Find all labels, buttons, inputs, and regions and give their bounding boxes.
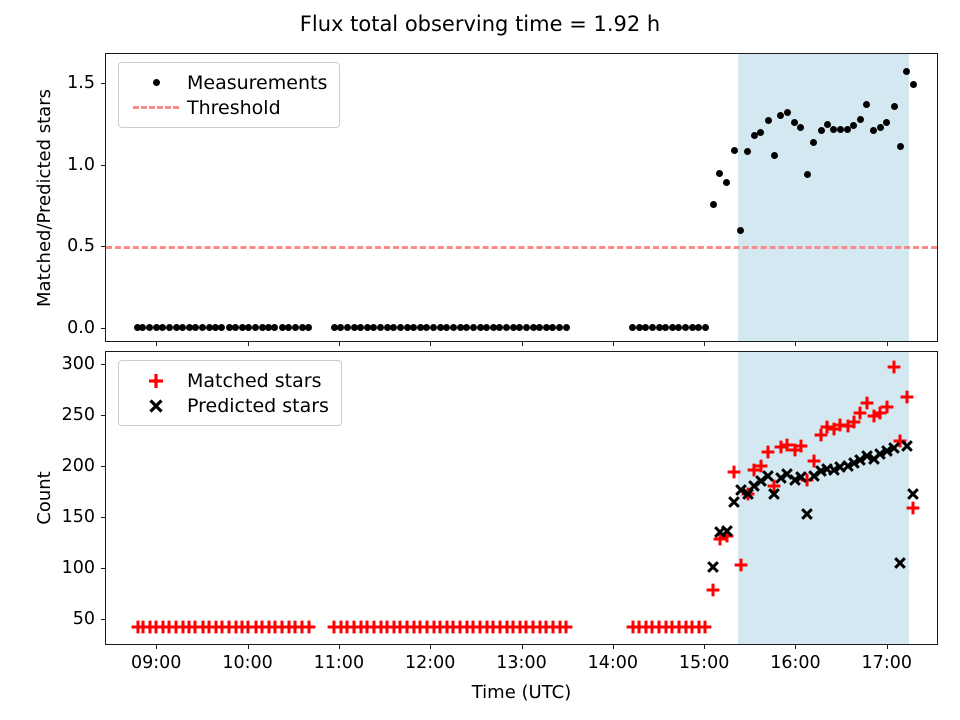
data-point (563, 324, 570, 331)
x-axis-label: Time (UTC) (472, 682, 572, 703)
data-point (139, 324, 146, 331)
data-point (801, 477, 802, 478)
data-point (166, 324, 173, 331)
y-tick (101, 517, 106, 518)
data-point (807, 514, 808, 515)
data-point (245, 324, 252, 331)
data-point (713, 567, 714, 568)
data-point (705, 627, 706, 628)
data-point (723, 179, 730, 186)
y-tick-label: 100 (62, 558, 95, 578)
x-tick-label: 14:00 (588, 653, 638, 673)
x-tick-label: 11:00 (314, 653, 364, 673)
y-tick (101, 619, 106, 620)
y-tick (101, 466, 106, 467)
legend-label-threshold: Threshold (183, 97, 281, 119)
x-tick-label: 13:00 (496, 653, 546, 673)
data-point (877, 124, 884, 131)
y-tick-label: 1.5 (67, 73, 95, 93)
figure-title: Flux total observing time = 1.92 h (0, 12, 960, 36)
cross-marker-icon (129, 396, 183, 416)
x-tick (795, 644, 796, 649)
figure-root: Flux total observing time = 1.92 h 0.00.… (0, 0, 960, 720)
data-point (566, 627, 567, 628)
data-point (768, 476, 769, 477)
data-point (397, 324, 404, 331)
x-tick-label: 17:00 (862, 653, 912, 673)
y-tick-label: 200 (62, 456, 95, 476)
data-point (757, 129, 764, 136)
x-tick (156, 644, 157, 649)
data-point (748, 494, 749, 495)
legend-label-measurements: Measurements (183, 72, 327, 94)
x-tick (339, 644, 340, 649)
data-point (894, 448, 895, 449)
data-point (860, 413, 861, 414)
data-point (854, 422, 855, 423)
data-point (741, 565, 742, 566)
data-point (804, 171, 811, 178)
y-axis-label-count: Count (34, 471, 55, 524)
data-point (887, 407, 888, 408)
data-point (737, 227, 744, 234)
x-tick (887, 341, 888, 346)
data-point (903, 68, 910, 75)
data-point (857, 116, 864, 123)
data-point (305, 324, 312, 331)
y-tick (101, 165, 106, 166)
data-point (784, 109, 791, 116)
data-point (818, 127, 825, 134)
data-point (702, 324, 709, 331)
data-point (913, 494, 914, 495)
x-tick (248, 341, 249, 346)
y-tick-label: 250 (62, 405, 95, 425)
data-point (910, 81, 917, 88)
data-point (907, 397, 908, 398)
data-point (913, 508, 914, 509)
data-point (837, 126, 844, 133)
x-tick (339, 341, 340, 346)
data-point (549, 324, 556, 331)
y-tick-label: 50 (73, 609, 95, 629)
data-point (450, 324, 457, 331)
dashed-line-icon (129, 106, 183, 109)
data-point (309, 627, 310, 628)
x-tick-label: 16:00 (770, 653, 820, 673)
data-point (675, 324, 682, 331)
legend-item-predicted-stars: Predicted stars (129, 393, 329, 418)
data-point (523, 324, 530, 331)
data-point (734, 472, 735, 473)
y-tick (101, 415, 106, 416)
y-tick (101, 83, 106, 84)
data-point (867, 403, 868, 404)
data-point (649, 324, 656, 331)
data-point (713, 590, 714, 591)
data-point (470, 324, 477, 331)
shaded-time-region (738, 54, 909, 341)
data-point (727, 531, 728, 532)
y-tick (101, 246, 106, 247)
threshold-line (106, 246, 937, 249)
plus-marker-icon (129, 371, 183, 391)
data-point (734, 502, 735, 503)
shaded-time-region (738, 352, 909, 644)
data-point (710, 201, 717, 208)
legend-item-matched-stars: Matched stars (129, 368, 329, 393)
legend-label-predicted-stars: Predicted stars (183, 395, 329, 417)
data-point (496, 324, 503, 331)
data-point (731, 147, 738, 154)
x-tick (430, 341, 431, 346)
x-tick (887, 644, 888, 649)
data-point (271, 324, 278, 331)
axes-ratio: 0.00.51.01.5 Measurements Threshold (105, 53, 938, 342)
legend-label-matched-stars: Matched stars (183, 370, 321, 392)
y-tick-label: 0.0 (67, 318, 95, 338)
legend-ratio: Measurements Threshold (118, 62, 340, 128)
data-point (814, 461, 815, 462)
y-tick (101, 364, 106, 365)
data-point (894, 367, 895, 368)
data-point (761, 466, 762, 467)
data-point (192, 324, 199, 331)
x-tick-label: 12:00 (405, 653, 455, 673)
data-point (218, 324, 225, 331)
axes-count: 09:0010:0011:0012:0013:0014:0015:0016:00… (105, 351, 938, 645)
y-tick (101, 328, 106, 329)
data-point (907, 446, 908, 447)
data-point (810, 139, 817, 146)
data-point (370, 324, 377, 331)
data-point (891, 103, 898, 110)
x-tick (522, 341, 523, 346)
y-tick-label: 150 (62, 507, 95, 527)
data-point (765, 117, 772, 124)
x-tick (704, 644, 705, 649)
x-tick (248, 644, 249, 649)
x-tick (613, 341, 614, 346)
y-tick (101, 568, 106, 569)
data-point (292, 324, 299, 331)
data-point (821, 435, 822, 436)
x-tick-label: 10:00 (222, 653, 272, 673)
legend-item-threshold: Threshold (129, 95, 327, 120)
data-point (344, 324, 351, 331)
x-tick (522, 644, 523, 649)
y-tick-label: 0.5 (67, 236, 95, 256)
legend-count: Matched stars Predicted stars (118, 360, 342, 426)
data-point (423, 324, 430, 331)
dot-icon (129, 79, 183, 86)
x-tick (613, 644, 614, 649)
x-tick-label: 09:00 (131, 653, 181, 673)
data-point (771, 152, 778, 159)
y-axis-label-ratio: Matched/Predicted stars (34, 89, 55, 307)
data-point (716, 170, 723, 177)
data-point (900, 563, 901, 564)
x-tick (156, 341, 157, 346)
x-tick (795, 341, 796, 346)
y-tick-label: 300 (62, 354, 95, 374)
legend-item-measurements: Measurements (129, 70, 327, 95)
data-point (768, 452, 769, 453)
x-tick (704, 341, 705, 346)
data-point (774, 494, 775, 495)
y-tick-label: 1.0 (67, 155, 95, 175)
data-point (801, 446, 802, 447)
x-tick-label: 15:00 (679, 653, 729, 673)
x-tick (430, 644, 431, 649)
